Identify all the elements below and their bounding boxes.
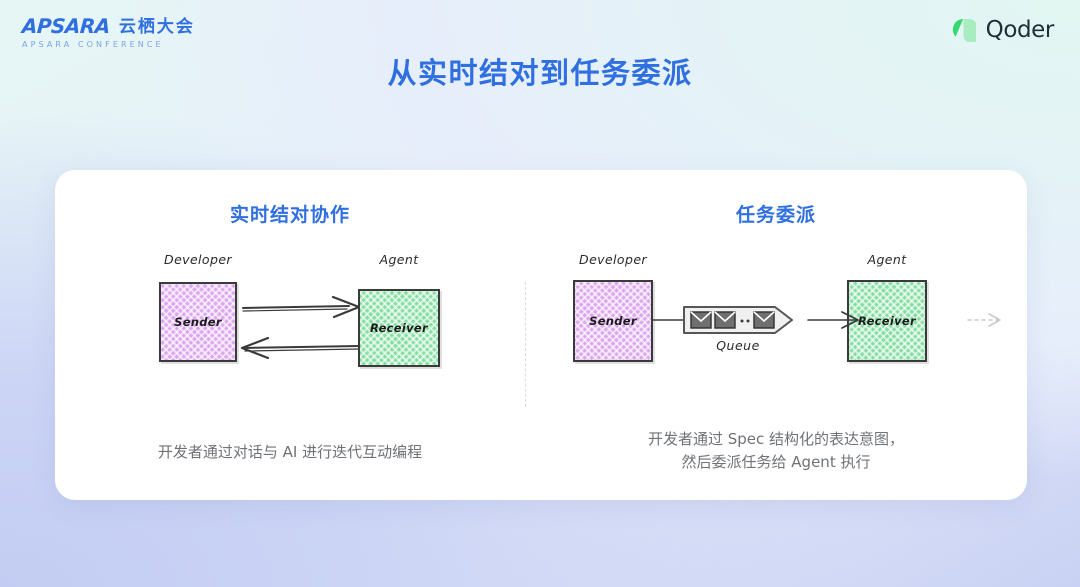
queue-shape [682,304,794,334]
panel-heading-realtime-pairing: 实时结对协作 [55,200,525,227]
panels-container: 实时结对协作 Developer Agent Sender Receiver [55,170,1027,500]
slide-root: APSARA 云栖大会 APSARA CONFERENCE Qoder [0,0,1080,587]
box-sender-left: Sender [159,282,237,362]
label-agent-right: Agent [868,252,907,267]
panel-realtime-pairing: 实时结对协作 Developer Agent Sender Receiver [55,170,525,500]
box-receiver-left-label: Receiver [370,321,428,335]
apsara-logo-subtitle: APSARA CONFERENCE [22,41,202,49]
apsara-wordmark: APSARA [21,16,110,36]
caption-line: 然后委派任务给 Agent 执行 [525,451,1027,474]
queue-group: Queue [682,304,794,353]
apsara-conference-logo: APSARA 云栖大会 APSARA CONFERENCE [22,16,202,49]
box-sender-right: Sender [573,280,653,362]
apsara-logo-primary-row: APSARA 云栖大会 [22,16,202,36]
diagram-realtime-pairing: Developer Agent Sender Receiver [55,252,525,412]
caption-task-delegation: 开发者通过 Spec 结构化的表达意图， 然后委派任务给 Agent 执行 [525,428,1027,475]
label-developer-right: Developer [579,252,647,267]
caption-line: 开发者通过对话与 AI 进行迭代互动编程 [55,441,525,464]
page-title: 从实时结对到任务委派 [0,50,1080,92]
box-sender-right-label: Sender [589,314,637,328]
panel-task-delegation: 任务委派 Developer Agent Sender Receiver [525,170,1027,500]
label-developer-left: Developer [164,252,232,267]
box-sender-left-label: Sender [174,315,222,329]
qoder-wordmark: Qoder [986,19,1054,42]
panel-heading-task-delegation: 任务委派 [525,200,1027,227]
queue-to-receiver-arrow [807,308,869,332]
qoder-logo: Qoder [950,17,1054,44]
apsara-chinese-name: 云栖大会 [119,19,195,36]
content-card: 实时结对协作 Developer Agent Sender Receiver [55,170,1027,500]
queue-caption: Queue [682,338,794,353]
caption-realtime-pairing: 开发者通过对话与 AI 进行迭代互动编程 [55,441,525,464]
sender-to-receiver-arrow [241,296,371,376]
label-agent-left: Agent [380,252,419,267]
diagram-task-delegation: Developer Agent Sender Receiver [525,252,1027,412]
caption-line: 开发者通过 Spec 结构化的表达意图， [525,428,1027,451]
qoder-leaf-icon [950,17,977,44]
receiver-trailing-dotted-arrow [967,308,1011,332]
